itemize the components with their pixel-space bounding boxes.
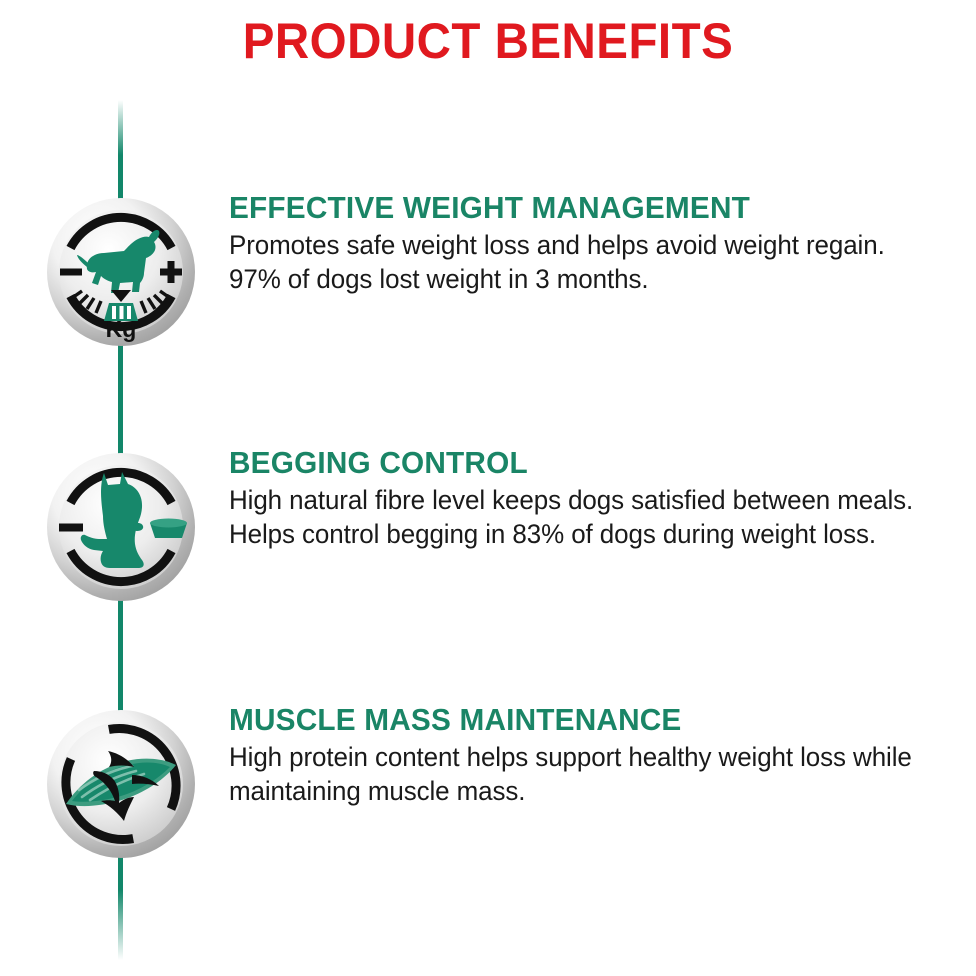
begging-dog-bowl-medallion-icon (46, 452, 196, 602)
product-benefits-infographic: PRODUCT BENEFITS (0, 0, 976, 976)
benefit-heading: EFFECTIVE WEIGHT MANAGEMENT (229, 190, 922, 226)
benefit-text-block: EFFECTIVE WEIGHT MANAGEMENT Promotes saf… (229, 190, 951, 296)
benefit-heading: MUSCLE MASS MAINTENANCE (229, 702, 922, 738)
muscle-fibre-medallion-icon (46, 709, 196, 859)
benefit-heading: BEGGING CONTROL (229, 445, 922, 481)
benefit-body: High natural fibre level keeps dogs sati… (229, 483, 937, 551)
benefit-body: Promotes safe weight loss and helps avoi… (229, 228, 937, 296)
benefit-text-block: BEGGING CONTROL High natural fibre level… (229, 445, 951, 551)
benefit-text-block: MUSCLE MASS MAINTENANCE High protein con… (229, 702, 951, 808)
weight-scale-dog-medallion-icon: Kg (46, 197, 196, 347)
medallion-kg-label: Kg (106, 316, 137, 342)
page-title: PRODUCT BENEFITS (24, 13, 951, 69)
benefit-body: High protein content helps support healt… (229, 740, 937, 808)
